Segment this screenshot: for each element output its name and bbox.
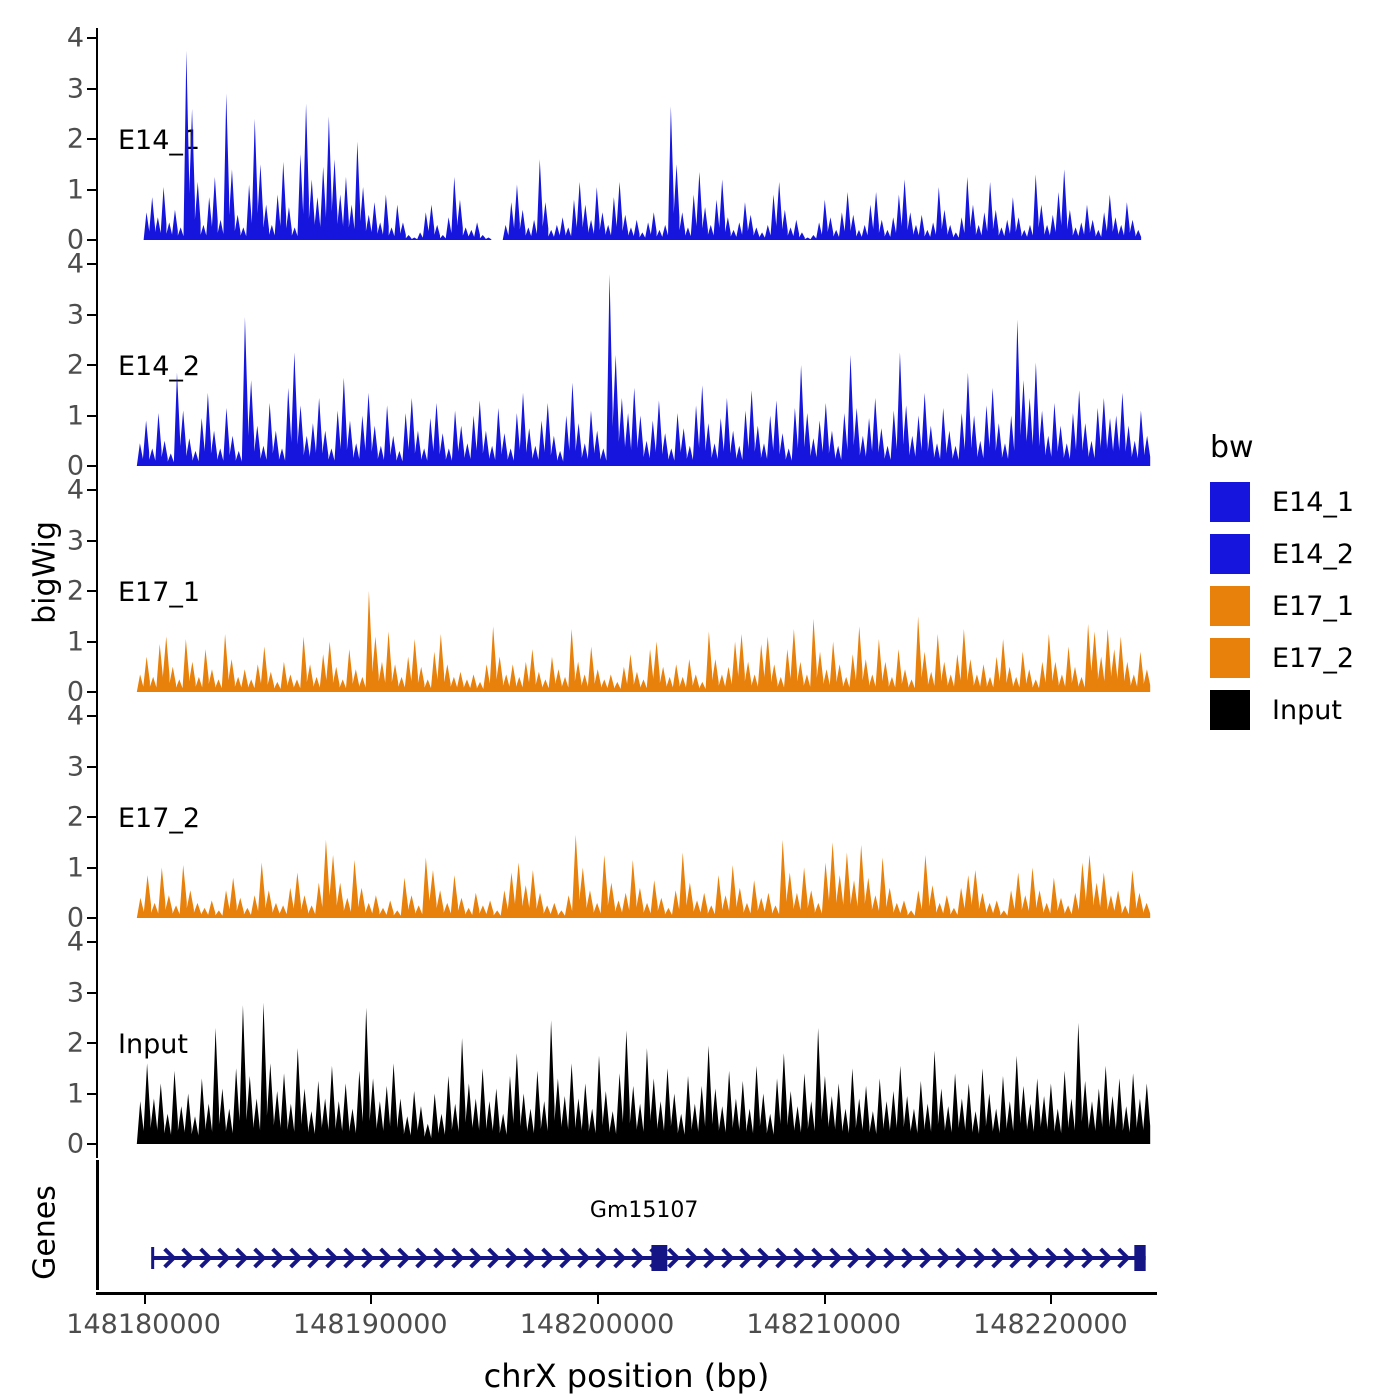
track-panel-e14_2: 01234E14_2 xyxy=(96,254,1157,480)
genes-panel: Gm15107 xyxy=(96,1160,1157,1290)
legend-item-e17_2[interactable]: E17_2 xyxy=(1210,638,1354,678)
legend-item-e14_2[interactable]: E14_2 xyxy=(1210,534,1354,574)
signal-area-e14_1[interactable] xyxy=(98,28,1157,254)
y-tick-label: 0 xyxy=(67,1131,84,1158)
signal-area-e14_2[interactable] xyxy=(98,254,1157,480)
x-tick xyxy=(824,1295,826,1304)
legend-title: bw xyxy=(1210,430,1254,465)
y-tick-label: 1 xyxy=(67,854,84,881)
x-tick xyxy=(144,1295,146,1304)
signal-area-e17_1[interactable] xyxy=(98,480,1157,706)
y-tick-label: 3 xyxy=(67,979,84,1006)
legend-item-e14_1[interactable]: E14_1 xyxy=(1210,482,1354,522)
y-tick-label: 2 xyxy=(67,352,84,379)
x-tick-label: 148190000 xyxy=(293,1311,448,1338)
genes-axis-label: Genes xyxy=(28,1133,63,1333)
y-axis-label: bigWig xyxy=(28,473,63,673)
legend-swatch xyxy=(1210,638,1250,678)
y-tick-label: 3 xyxy=(67,753,84,780)
legend-label: E14_1 xyxy=(1272,487,1354,518)
y-tick xyxy=(87,189,96,191)
legend-swatch xyxy=(1210,482,1250,522)
track-panel-e17_2: 01234E17_2 xyxy=(96,706,1157,932)
track-panel-e17_1: 01234E17_1 xyxy=(96,480,1157,706)
y-tick-label: 3 xyxy=(67,75,84,102)
y-tick xyxy=(87,88,96,90)
legend-label: E17_1 xyxy=(1272,591,1354,622)
y-tick xyxy=(87,239,96,241)
y-tick-label: 2 xyxy=(67,1030,84,1057)
y-tick xyxy=(87,37,96,39)
y-tick xyxy=(87,364,96,366)
legend-item-input[interactable]: Input xyxy=(1210,690,1342,730)
y-tick xyxy=(87,917,96,919)
x-tick xyxy=(597,1295,599,1304)
track-panel-input: 01234Input xyxy=(96,932,1157,1158)
x-tick-label: 148180000 xyxy=(66,1311,221,1338)
y-tick xyxy=(87,867,96,869)
y-tick-label: 2 xyxy=(67,804,84,831)
y-tick xyxy=(87,590,96,592)
y-tick xyxy=(87,992,96,994)
legend: bw E14_1E14_2E17_1E17_2Input xyxy=(1210,430,1400,730)
x-axis-title: chrX position (bp) xyxy=(484,1357,770,1395)
y-tick xyxy=(87,489,96,491)
y-tick-label: 1 xyxy=(67,176,84,203)
x-tick xyxy=(370,1295,372,1304)
y-tick-label: 4 xyxy=(67,25,84,52)
y-tick-label: 2 xyxy=(67,126,84,153)
y-tick xyxy=(87,540,96,542)
y-tick xyxy=(87,138,96,140)
legend-swatch xyxy=(1210,534,1250,574)
y-tick xyxy=(87,314,96,316)
legend-label: Input xyxy=(1272,695,1342,726)
y-tick xyxy=(87,766,96,768)
legend-label: E17_2 xyxy=(1272,643,1354,674)
signal-area-input[interactable] xyxy=(98,932,1157,1158)
x-tick xyxy=(1050,1295,1052,1304)
y-tick-label: 1 xyxy=(67,402,84,429)
y-tick xyxy=(87,1042,96,1044)
y-tick xyxy=(87,691,96,693)
y-tick xyxy=(87,941,96,943)
legend-label: E14_2 xyxy=(1272,539,1354,570)
y-tick xyxy=(87,715,96,717)
y-tick-label: 4 xyxy=(67,251,84,278)
gene-label: Gm15107 xyxy=(590,1198,698,1223)
y-tick xyxy=(87,415,96,417)
y-tick-label: 4 xyxy=(67,477,84,504)
y-tick-label: 4 xyxy=(67,703,84,730)
legend-swatch xyxy=(1210,586,1250,626)
legend-item-e17_1[interactable]: E17_1 xyxy=(1210,586,1354,626)
signal-area-e17_2[interactable] xyxy=(98,706,1157,932)
y-tick xyxy=(87,816,96,818)
legend-swatch xyxy=(1210,690,1250,730)
y-tick-label: 1 xyxy=(67,628,84,655)
x-tick-label: 148200000 xyxy=(520,1311,675,1338)
y-tick-label: 3 xyxy=(67,527,84,554)
x-tick-label: 148220000 xyxy=(973,1311,1128,1338)
track-panel-e14_1: 01234E14_1 xyxy=(96,28,1157,254)
y-tick xyxy=(87,465,96,467)
gene-model-track[interactable]: Gm15107 xyxy=(96,1160,1157,1290)
y-tick-label: 1 xyxy=(67,1080,84,1107)
y-tick xyxy=(87,641,96,643)
x-axis-line xyxy=(96,1292,1157,1295)
x-tick-label: 148210000 xyxy=(746,1311,901,1338)
y-tick-label: 4 xyxy=(67,929,84,956)
y-tick-label: 3 xyxy=(67,301,84,328)
y-tick xyxy=(87,263,96,265)
genome-browser-figure: bigWig Genes 01234E14_101234E14_201234E1… xyxy=(0,0,1400,1400)
y-tick xyxy=(87,1143,96,1145)
y-tick-label: 2 xyxy=(67,578,84,605)
y-tick xyxy=(87,1093,96,1095)
